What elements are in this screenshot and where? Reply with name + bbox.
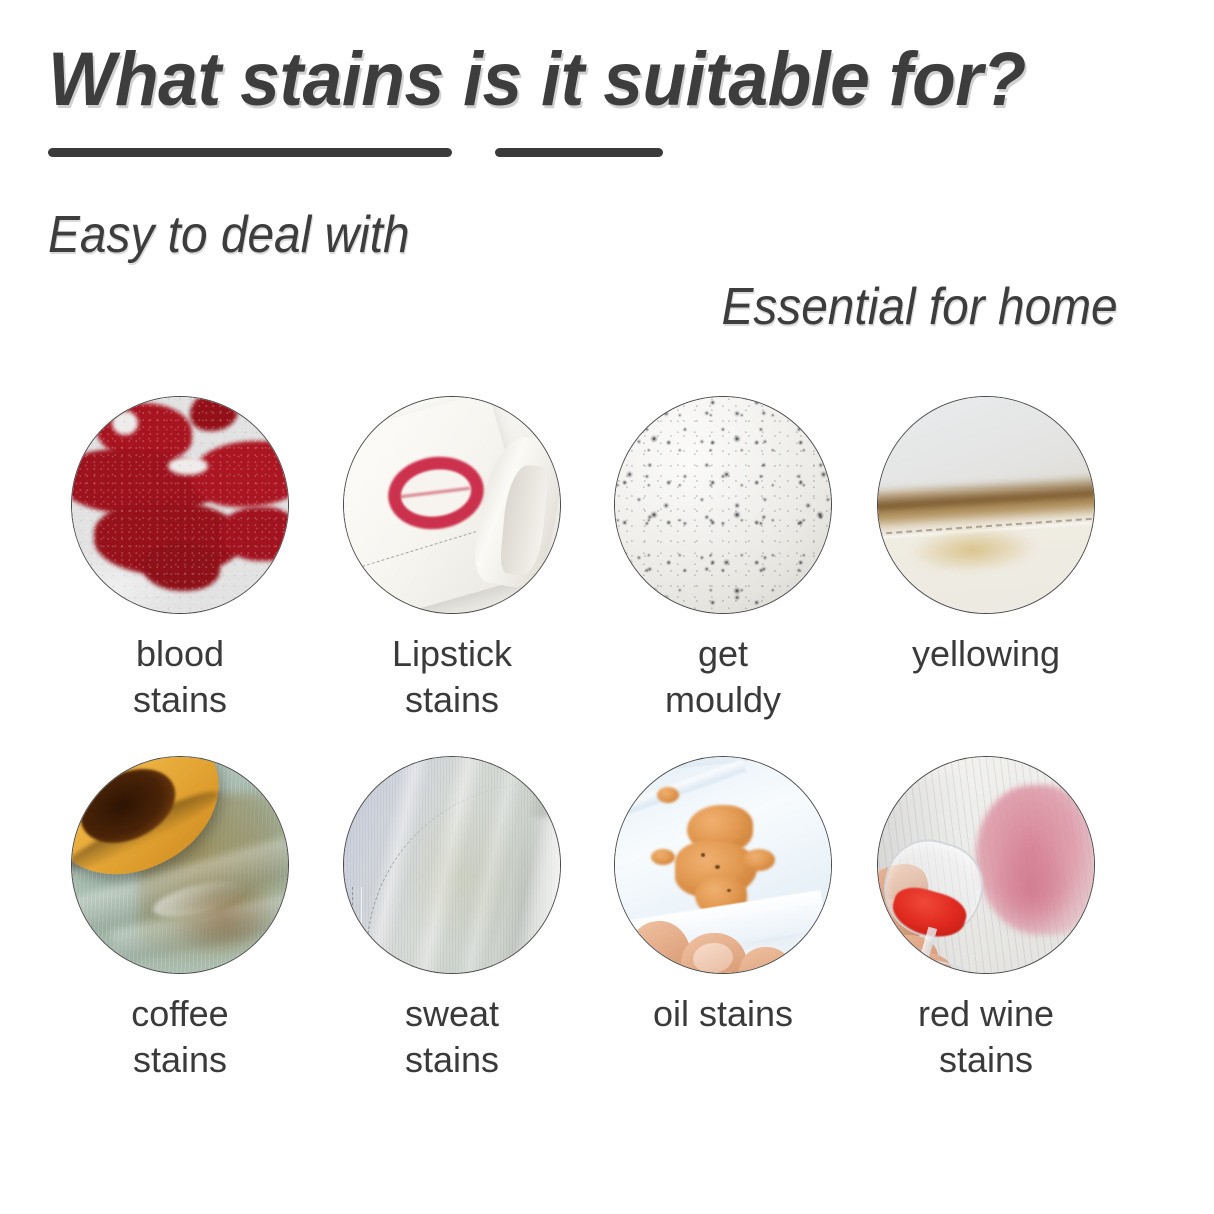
divider-bar-long	[48, 148, 452, 157]
stain-label: oil stains	[598, 991, 848, 1037]
stain-label: sweat stains	[327, 991, 577, 1083]
yellowing-stain-photo	[877, 396, 1095, 614]
oil-blob	[651, 849, 675, 865]
stain-label: red wine stains	[861, 991, 1111, 1083]
wine-stain-dark	[990, 841, 1072, 937]
stain-label: get mouldy	[598, 631, 848, 723]
subtitle-left: Easy to deal with	[48, 205, 410, 265]
stain-label: blood stains	[55, 631, 305, 723]
stain-label: coffee stains	[55, 991, 305, 1083]
food-crumb	[727, 889, 731, 892]
stain-item-coffee[interactable]: coffee stains	[55, 756, 305, 1083]
blood-stain-photo	[71, 396, 289, 614]
light-highlight	[524, 817, 561, 957]
stain-item-yellowing[interactable]: yellowing	[861, 396, 1111, 677]
divider-bar-short	[495, 148, 663, 157]
stain-item-sweat[interactable]: sweat stains	[327, 756, 577, 1083]
fabric-texture	[72, 397, 288, 613]
lipstick-stain-photo	[343, 396, 561, 614]
mould-stain-photo	[614, 396, 832, 614]
food-crumb	[715, 865, 720, 869]
stain-row: coffee stains sweat stains	[0, 756, 1214, 1116]
yellow-patch	[907, 524, 1039, 577]
stain-item-lipstick[interactable]: Lipstick stains	[327, 396, 577, 723]
stain-grid: blood stains Lipstick stains	[0, 396, 1214, 1116]
page-title: What stains is it suitable for?	[48, 36, 1026, 123]
subtitle-right: Essential for home	[722, 277, 1118, 337]
stain-item-mould[interactable]: get mouldy	[598, 396, 848, 723]
collar-upper	[878, 397, 1095, 489]
oil-stain-photo	[614, 756, 832, 974]
sweat-stain-photo	[343, 756, 561, 974]
stain-label: Lipstick stains	[327, 631, 577, 723]
stain-item-red-wine[interactable]: red wine stains	[861, 756, 1111, 1083]
stain-item-oil[interactable]: oil stains	[598, 756, 848, 1037]
stain-item-blood[interactable]: blood stains	[55, 396, 305, 723]
title-divider	[48, 148, 1048, 162]
food-crumb	[701, 853, 705, 857]
coffee-stain-photo	[71, 756, 289, 974]
oil-blob	[657, 787, 679, 803]
side-seam	[352, 887, 362, 971]
mould-specks-fine	[615, 397, 831, 613]
stain-label: yellowing	[861, 631, 1111, 677]
oil-blob	[743, 849, 775, 871]
stain-row: blood stains Lipstick stains	[0, 396, 1214, 756]
red-wine-stain-photo	[877, 756, 1095, 974]
